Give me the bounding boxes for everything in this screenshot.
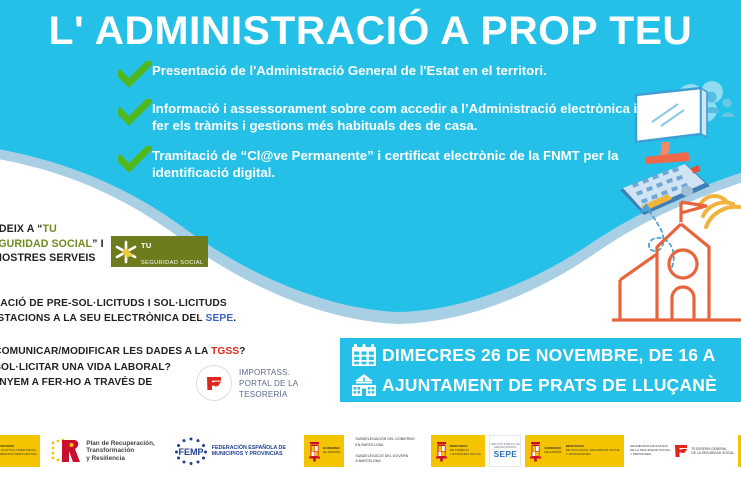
- importass-mark-icon: [196, 365, 232, 401]
- logo-caption-line3: Y MEMORIA DEMOCRÁTICA: [0, 452, 37, 456]
- check-icon: [118, 146, 152, 172]
- event-date-row: DIMECRES 26 DE NOVEMBRE, DE 16 A: [346, 340, 741, 370]
- bullet-item: Informació i assessorament sobre com acc…: [118, 98, 638, 134]
- logo-plan-recuperacion: Plan de Recuperación, Transformación y R…: [50, 434, 155, 468]
- svg-text:FEMP: FEMP: [178, 447, 203, 457]
- importass-text: IMPORTASS. PORTAL DE LA TESORERÍA: [239, 367, 298, 400]
- logo-caption: GOBIERNO DE ESPAÑA: [323, 447, 340, 455]
- calendar-icon: [346, 341, 382, 369]
- spain-crest-icon: [529, 441, 542, 462]
- logo-ministerio-politica-territorial: MINISTERIO DE POLÍTICA TERRITORIAL Y MEM…: [0, 434, 40, 468]
- spain-crest-icon: [308, 441, 321, 462]
- logo-femp: FEMP FEDERACIÓN ESPAÑOLA DE MUNICIPIOS Y…: [173, 434, 286, 468]
- event-date: DIMECRES 26 DE NOVEMBRE, DE 16 A: [382, 345, 715, 366]
- block1-line1-highlight: TU: [43, 223, 57, 235]
- block1-line2-post: ” I: [92, 238, 103, 250]
- tgss-line4: TESORERÍA GENERAL: [691, 447, 727, 451]
- spain-crest-icon: [435, 441, 448, 462]
- tgss-top-caption: SECRETARÍA DE ESTADO DE LA SEGURIDAD SOC…: [630, 445, 670, 456]
- yellow-crest-block: MINISTERIO DE TRABAJO Y ECONOMÍA SOCIAL: [431, 435, 486, 467]
- prtr-line2: Transformación: [86, 447, 134, 454]
- subdel-line1: SUBDELEGACIÓN DEL GOBIERNO: [355, 437, 414, 441]
- logo-caption: MINISTERIO DE POLÍTICA TERRITORIAL Y MEM…: [0, 445, 37, 456]
- logo-caption-line5: Y MIGRACIONES: [566, 452, 591, 456]
- femp-caption: FEDERACIÓN ESPAÑOLA DE MUNICIPIOS Y PROV…: [212, 445, 286, 458]
- bullet-list: Presentació de l'Administració General d…: [118, 60, 638, 192]
- event-place-row: AJUNTAMENT DE PRATS DE LLUÇANÈ: [346, 370, 741, 400]
- importass-logo: IMPORTASS. PORTAL DE LA TESORERÍA: [196, 362, 316, 404]
- wifi-icon: [700, 196, 740, 227]
- logo-ministerio-trabajo: MINISTERIO DE TRABAJO Y ECONOMÍA SOCIAL: [431, 434, 486, 468]
- tu-seguridad-social-logo: TU SEGURIDAD SOCIAL: [111, 236, 208, 267]
- subdel-line3: SUBDELEGACIÓ DEL GOVERN: [355, 454, 408, 458]
- prtr-line3: y Resiliencia: [86, 455, 125, 462]
- importass-line3: TESORERÍA: [239, 390, 288, 399]
- prtr-line1: Plan de Recuperación,: [86, 440, 155, 447]
- block2-sepe-highlight: SEPE: [206, 313, 234, 324]
- bullet-item: Tramitació de “Cl@ve Permanente” i certi…: [118, 145, 638, 181]
- event-place: AJUNTAMENT DE PRATS DE LLUÇANÈ: [382, 375, 717, 396]
- yellow-crest-block: MINISTERIO DE POLÍTICA TERRITORIAL Y MEM…: [0, 435, 40, 467]
- ss-logo-text: TU SEGURIDAD SOCIAL: [141, 236, 204, 268]
- footer-logo-strip: MINISTERIO DE POLÍTICA TERRITORIAL Y MEM…: [0, 428, 741, 474]
- yellow-crest-block: GOBIERNO DE ESPAÑA MINISTERIO DE INCLUSI…: [525, 435, 624, 467]
- subdel-line4: A BARCELONA: [355, 459, 380, 463]
- logo-sepe: SERVICIO PÚBLICO DE EMPLEO ESTATAL SEPE: [485, 434, 525, 468]
- block1-line1-pre: CEDEIX A “: [0, 223, 43, 235]
- subdelegacion-caption: SUBDELEGACIÓN DEL GOBIERNO EN BARCELONA …: [355, 437, 414, 464]
- tgss-line3: Y PENSIONES: [630, 452, 651, 456]
- prtr-caption: Plan de Recuperación, Transformación y R…: [86, 440, 155, 463]
- logo-caption-line2: DE ESPAÑA: [544, 450, 561, 454]
- block3-tgss-highlight: TGSS: [211, 346, 239, 357]
- bullet-text: Informació i assessorament sobre com acc…: [152, 98, 638, 134]
- check-icon: [118, 99, 152, 125]
- yellow-crest-block: GOBIERNO DE ESPAÑA: [304, 435, 344, 467]
- check-icon: [118, 61, 152, 87]
- sepe-wordmark: SEPE: [494, 449, 518, 459]
- importass-line1: IMPORTASS.: [239, 368, 290, 377]
- tgss-mark-icon: [673, 443, 689, 459]
- sepe-box: SERVICIO PÚBLICO DE EMPLEO ESTATAL SEPE: [489, 435, 521, 467]
- ss-logo-title: TU: [141, 241, 152, 250]
- info-block-sepe: ORMACIÓ DE PRE-SOL·LICITUDS I SOL·LICITU…: [0, 296, 266, 326]
- prtr-mark-icon: [50, 437, 82, 465]
- subdel-line2: EN BARCELONA: [355, 443, 383, 447]
- logo-caption: GOBIERNO DE ESPAÑA: [544, 447, 561, 455]
- page-title: L' ADMINISTRACIÓ A PROP TEU: [0, 8, 741, 54]
- importass-line2: PORTAL DE LA: [239, 379, 298, 388]
- logo-ministerio-inclusion: GOBIERNO DE ESPAÑA MINISTERIO DE INCLUSI…: [525, 434, 624, 468]
- tgss-bottom-caption: TESORERÍA GENERAL DE LA SEGURIDAD SOCIAL: [691, 447, 734, 456]
- logo-tesoreria-general-seguridad-social: SECRETARÍA DE ESTADO DE LA SEGURIDAD SOC…: [628, 435, 734, 467]
- block2-line2-post: .: [233, 313, 236, 324]
- tgss-line5: DE LA SEGURIDAD SOCIAL: [691, 451, 734, 455]
- logo-caption-secondary: MINISTERIO DE INCLUSIÓN, SEGURIDAD SOCIA…: [566, 445, 620, 456]
- block2-line1: ORMACIÓ DE PRE-SOL·LICITUDS I SOL·LICITU…: [0, 296, 266, 311]
- ss-logo-subtitle: SEGURIDAD SOCIAL: [141, 260, 204, 266]
- seguridad-social-mark-icon: [111, 238, 141, 266]
- event-banner: DIMECRES 26 DE NOVEMBRE, DE 16 A: [340, 338, 741, 402]
- block1-line2-highlight: SEGURIDAD SOCIAL: [0, 238, 92, 250]
- block2-line2-pre: PRESTACIONS A LA SEU ELECTRÒNICA DEL: [0, 313, 206, 324]
- femp-stars-icon: FEMP: [173, 436, 209, 466]
- block3-line1-post: ?: [239, 346, 245, 357]
- poster-canvas: L' ADMINISTRACIÓ A PROP TEU Presentació …: [0, 0, 741, 486]
- bullet-item: Presentació de l'Administració General d…: [118, 60, 638, 87]
- logo-subdelegacion-gobierno-barcelona: SUBDELEGACIÓN DEL GOBIERNO EN BARCELONA …: [352, 434, 414, 468]
- bullet-text: Presentació de l'Administració General d…: [152, 60, 547, 79]
- logo-caption-line2: DE ESPAÑA: [323, 450, 340, 454]
- femp-line1: FEDERACIÓN ESPAÑOLA DE: [212, 445, 286, 451]
- logo-gobierno-de-espana: GOBIERNO DE ESPAÑA: [304, 434, 344, 468]
- town-hall-icon: [346, 371, 382, 399]
- bullet-text: Tramitació de “Cl@ve Permanente” i certi…: [152, 145, 638, 181]
- block3-line1-pre: LS COMUNICAR/MODIFICAR LES DADES A LA: [0, 346, 211, 357]
- logo-caption-line3: Y ECONOMÍA SOCIAL: [450, 452, 482, 456]
- logo-caption: MINISTERIO DE TRABAJO Y ECONOMÍA SOCIAL: [450, 445, 482, 456]
- femp-line2: MUNICIPIOS Y PROVINCIAS: [212, 451, 283, 457]
